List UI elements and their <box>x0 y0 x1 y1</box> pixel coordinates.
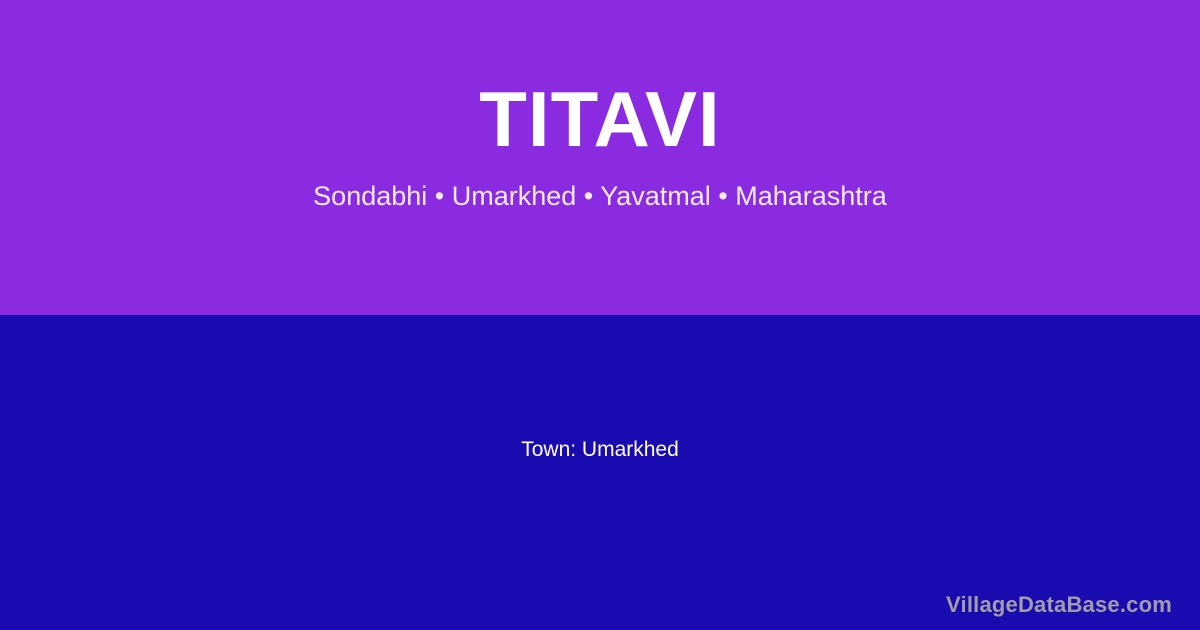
town-detail: Town: Umarkhed <box>521 436 679 463</box>
page-title: TITAVI <box>479 80 720 158</box>
site-watermark: VillageDataBase.com <box>946 592 1172 618</box>
village-info-card: TITAVI Sondabhi • Umarkhed • Yavatmal • … <box>0 0 1200 630</box>
location-breadcrumb: Sondabhi • Umarkhed • Yavatmal • Maharas… <box>313 180 887 212</box>
hero-banner: TITAVI Sondabhi • Umarkhed • Yavatmal • … <box>0 0 1200 315</box>
details-panel: Town: Umarkhed VillageDataBase.com <box>0 315 1200 630</box>
